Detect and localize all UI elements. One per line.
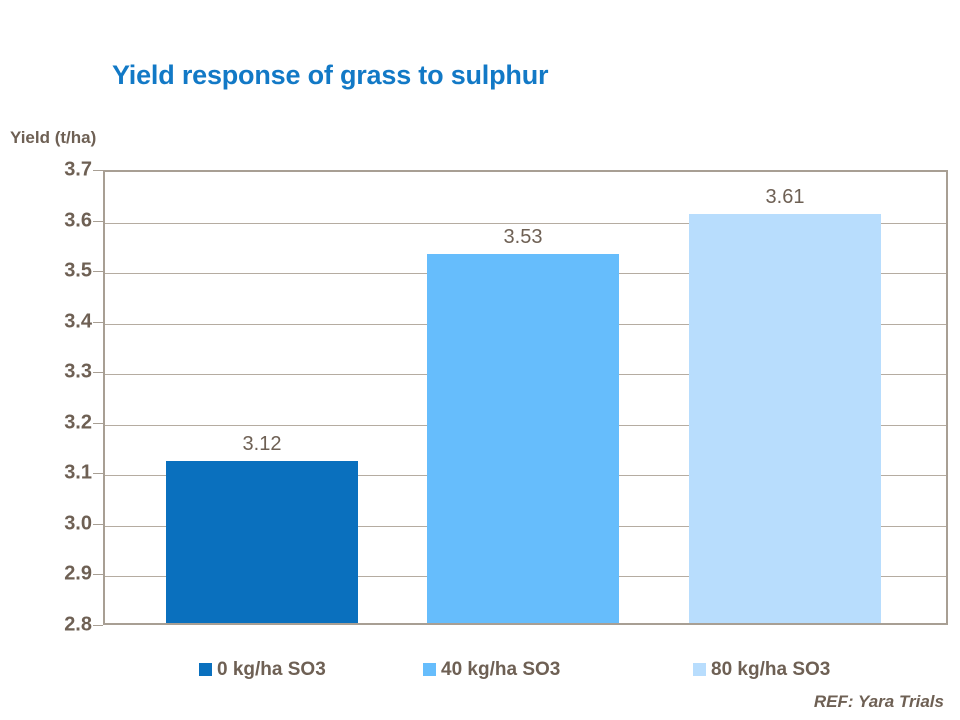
legend-swatch-icon — [693, 663, 706, 676]
y-axis-tick-mark — [93, 372, 103, 373]
y-axis-tick-mark — [93, 574, 103, 575]
y-axis-tick-mark — [93, 524, 103, 525]
y-axis-tick-label: 2.9 — [22, 563, 92, 586]
y-axis-title: Yield (t/ha) — [10, 128, 96, 148]
legend-swatch-icon — [199, 663, 212, 676]
y-axis-tick-mark — [93, 473, 103, 474]
y-axis-tick-mark — [93, 221, 103, 222]
y-axis-tick-label: 3.2 — [22, 411, 92, 434]
legend-label: 40 kg/ha SO3 — [441, 660, 560, 679]
bar-value-label: 3.12 — [243, 433, 282, 456]
legend-label: 0 kg/ha SO3 — [217, 660, 326, 679]
y-axis-tick-label: 3.4 — [22, 310, 92, 333]
reference-note: REF: Yara Trials — [814, 692, 944, 712]
bar-value-label: 3.53 — [504, 226, 543, 249]
bar-80-kg-ha-so3[interactable] — [689, 214, 881, 624]
y-axis-tick-label: 3.5 — [22, 260, 92, 283]
y-axis-tick-mark — [93, 322, 103, 323]
bar-40-kg-ha-so3[interactable] — [427, 254, 619, 623]
y-axis-tick-mark — [93, 170, 103, 171]
y-axis-tick-mark — [93, 423, 103, 424]
legend-item[interactable]: 40 kg/ha SO3 — [423, 660, 560, 679]
bar-value-label: 3.61 — [766, 186, 805, 209]
y-axis-tick-label: 3.7 — [22, 159, 92, 182]
plot-area: 3.123.533.61 — [103, 170, 948, 625]
y-axis-tick-label: 3.3 — [22, 361, 92, 384]
chart-legend: 0 kg/ha SO340 kg/ha SO380 kg/ha SO3 — [103, 660, 948, 686]
y-axis-tick-label: 2.8 — [22, 614, 92, 637]
legend-item[interactable]: 0 kg/ha SO3 — [199, 660, 326, 679]
y-axis-tick-label: 3.6 — [22, 209, 92, 232]
legend-swatch-icon — [423, 663, 436, 676]
y-axis-tick-mark — [93, 271, 103, 272]
y-axis-tick-label: 3.0 — [22, 512, 92, 535]
y-axis-tick-mark — [93, 625, 103, 626]
legend-label: 80 kg/ha SO3 — [711, 660, 830, 679]
bar-0-kg-ha-so3[interactable] — [166, 461, 358, 623]
y-axis-tick-label: 3.1 — [22, 462, 92, 485]
legend-item[interactable]: 80 kg/ha SO3 — [693, 660, 830, 679]
chart-title: Yield response of grass to sulphur — [112, 60, 548, 91]
